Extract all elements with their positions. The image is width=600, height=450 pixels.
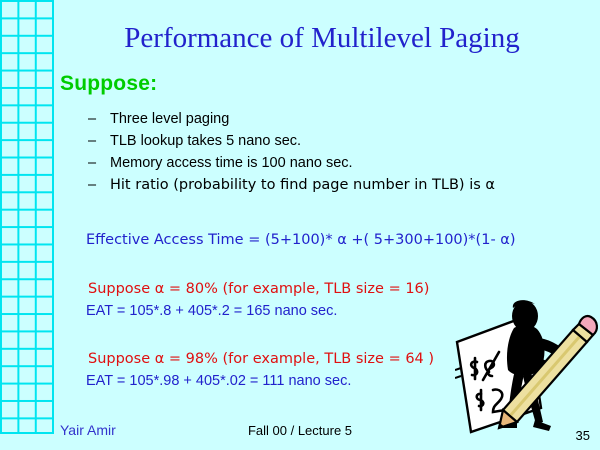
list-item-label: Memory access time is 100 nano sec. (110, 152, 353, 174)
list-item: – Memory access time is 100 nano sec. (88, 152, 528, 174)
example-1-result: EAT = 105*.8 + 405*.2 = 165 nano sec. (86, 301, 337, 321)
list-item-label: Hit ratio (probability to find page numb… (110, 174, 495, 196)
list-item: – TLB lookup takes 5 nano sec. (88, 130, 528, 152)
example-2-assumption: Suppose α = 98% (for example, TLB size =… (88, 349, 434, 369)
list-item: – Hit ratio (probability to find page nu… (88, 174, 528, 196)
slide-canvas: Performance of Multilevel Paging Suppose… (0, 0, 600, 450)
list-item-label: TLB lookup takes 5 nano sec. (110, 130, 301, 152)
person-writing-with-pencil-illustration (455, 300, 600, 435)
example-2-result: EAT = 105*.98 + 405*.02 = 111 nano sec. (86, 371, 351, 391)
footer-course-info: Fall 00 / Lecture 5 (0, 423, 600, 438)
footer-page-number: 35 (576, 428, 590, 443)
dash-bullet-icon: – (88, 152, 110, 174)
page-title: Performance of Multilevel Paging (62, 22, 582, 55)
decorative-grid-strip (0, 0, 54, 434)
dash-bullet-icon: – (88, 108, 110, 130)
suppose-heading: Suppose: (60, 72, 157, 96)
dash-bullet-icon: – (88, 130, 110, 152)
list-item: – Three level paging (88, 108, 528, 130)
example-1-assumption: Suppose α = 80% (for example, TLB size =… (88, 279, 429, 299)
list-item-label: Three level paging (110, 108, 229, 130)
assumptions-list: – Three level paging – TLB lookup takes … (88, 108, 528, 196)
dash-bullet-icon: – (88, 174, 110, 196)
effective-access-time-formula: Effective Access Time = (5+100)* α +( 5+… (86, 230, 516, 250)
